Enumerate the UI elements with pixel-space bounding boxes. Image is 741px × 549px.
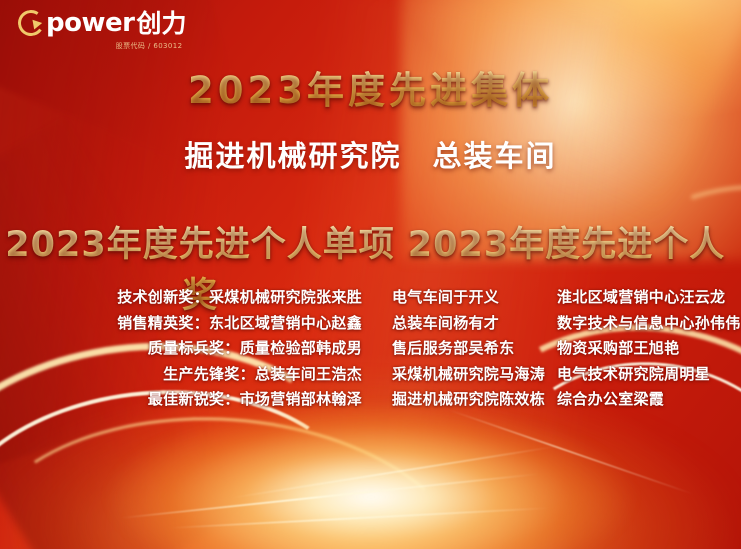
award-poster: power 创力 股票代码 / 603012 2023年度先进集体 掘进机械研究… <box>0 0 741 549</box>
logo-row: power 创力 <box>18 10 186 36</box>
logo-wordmark-cn: 创力 <box>136 11 186 36</box>
table-row: 总装车间杨有才 数字技术与信息中心孙伟伟 <box>392 311 741 337</box>
list-item: 销售精英奖：东北区域营销中心赵鑫 <box>0 311 362 337</box>
advanced-individuals-column: 电气车间于开义 淮北区域营销中心汪云龙 总装车间杨有才 数字技术与信息中心孙伟伟… <box>374 285 741 413</box>
light-streak-1 <box>121 473 539 519</box>
list-item: 电气车间于开义 <box>392 285 557 311</box>
light-streak-4 <box>448 409 694 496</box>
list-item: 数字技术与信息中心孙伟伟 <box>557 311 741 337</box>
page-subtitle: 掘进机械研究院 总装车间 <box>0 133 741 175</box>
list-item: 质量标兵奖：质量检验部韩成男 <box>0 336 362 362</box>
list-item: 电气技术研究院周明星 <box>557 362 741 388</box>
company-logo: power 创力 股票代码 / 603012 <box>18 10 186 51</box>
light-streak-2 <box>170 507 550 529</box>
list-item: 综合办公室梁霞 <box>557 387 741 413</box>
table-row: 售后服务部吴希东 物资采购部王旭艳 <box>392 336 741 362</box>
list-item: 总装车间杨有才 <box>392 311 557 337</box>
light-streak-3 <box>232 445 558 499</box>
page-title: 2023年度先进集体 <box>0 60 741 114</box>
award-lists: 技术创新奖：采煤机械研究院张来胜 销售精英奖：东北区域营销中心赵鑫 质量标兵奖：… <box>0 285 741 413</box>
special-awards-column: 技术创新奖：采煤机械研究院张来胜 销售精英奖：东北区域营销中心赵鑫 质量标兵奖：… <box>0 285 374 413</box>
logo-wordmark-en: power <box>46 10 134 36</box>
list-item: 物资采购部王旭艳 <box>557 336 741 362</box>
c-power-circle-arrow-icon <box>16 8 46 38</box>
list-item: 掘进机械研究院陈效栋 <box>392 387 557 413</box>
table-row: 电气车间于开义 淮北区域营销中心汪云龙 <box>392 285 741 311</box>
list-item: 技术创新奖：采煤机械研究院张来胜 <box>0 285 362 311</box>
list-item: 最佳新锐奖：市场营销部林翰泽 <box>0 387 362 413</box>
list-item: 售后服务部吴希东 <box>392 336 557 362</box>
light-ribbon-3 <box>0 401 486 549</box>
table-row: 掘进机械研究院陈效栋 综合办公室梁霞 <box>392 387 741 413</box>
list-item: 生产先锋奖：总装车间王浩杰 <box>0 362 362 388</box>
list-item: 采煤机械研究院马海涛 <box>392 362 557 388</box>
stock-code-label: 股票代码 / 603012 <box>18 41 186 51</box>
list-item: 淮北区域营销中心汪云龙 <box>557 285 741 311</box>
table-row: 采煤机械研究院马海涛 电气技术研究院周明星 <box>392 362 741 388</box>
